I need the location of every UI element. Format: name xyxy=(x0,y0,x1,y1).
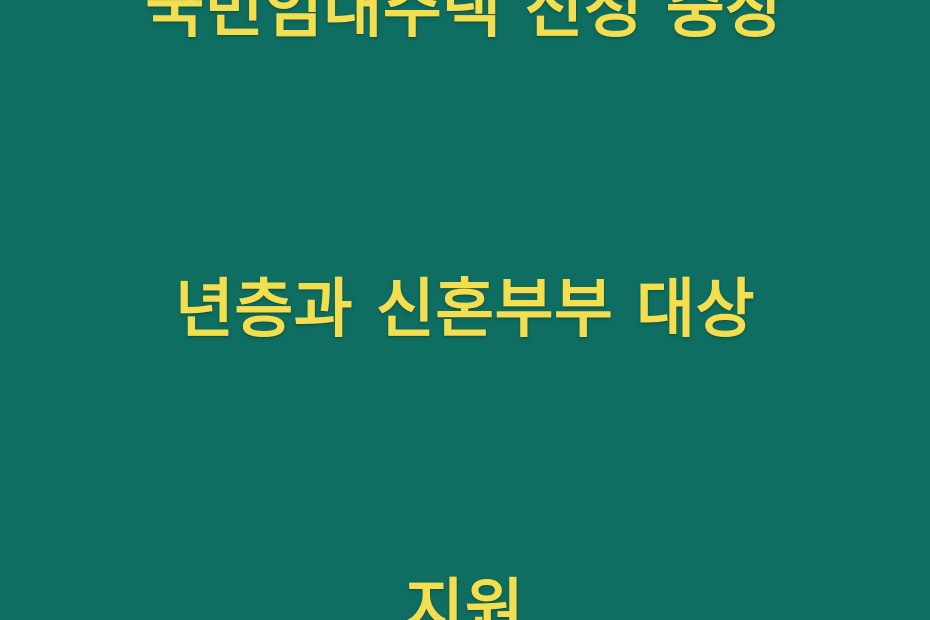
headline-line-2: 년층과 신혼부부 대상 xyxy=(45,260,885,360)
banner-headline: 국민임대주택 신청 중장 년층과 신혼부부 대상 지원 xyxy=(45,0,885,620)
headline-line-1: 국민임대주택 신청 중장 xyxy=(45,0,885,60)
thumbnail-banner: 국민임대주택 신청 중장 년층과 신혼부부 대상 지원 xyxy=(0,0,930,620)
headline-line-3: 지원 xyxy=(45,560,885,620)
